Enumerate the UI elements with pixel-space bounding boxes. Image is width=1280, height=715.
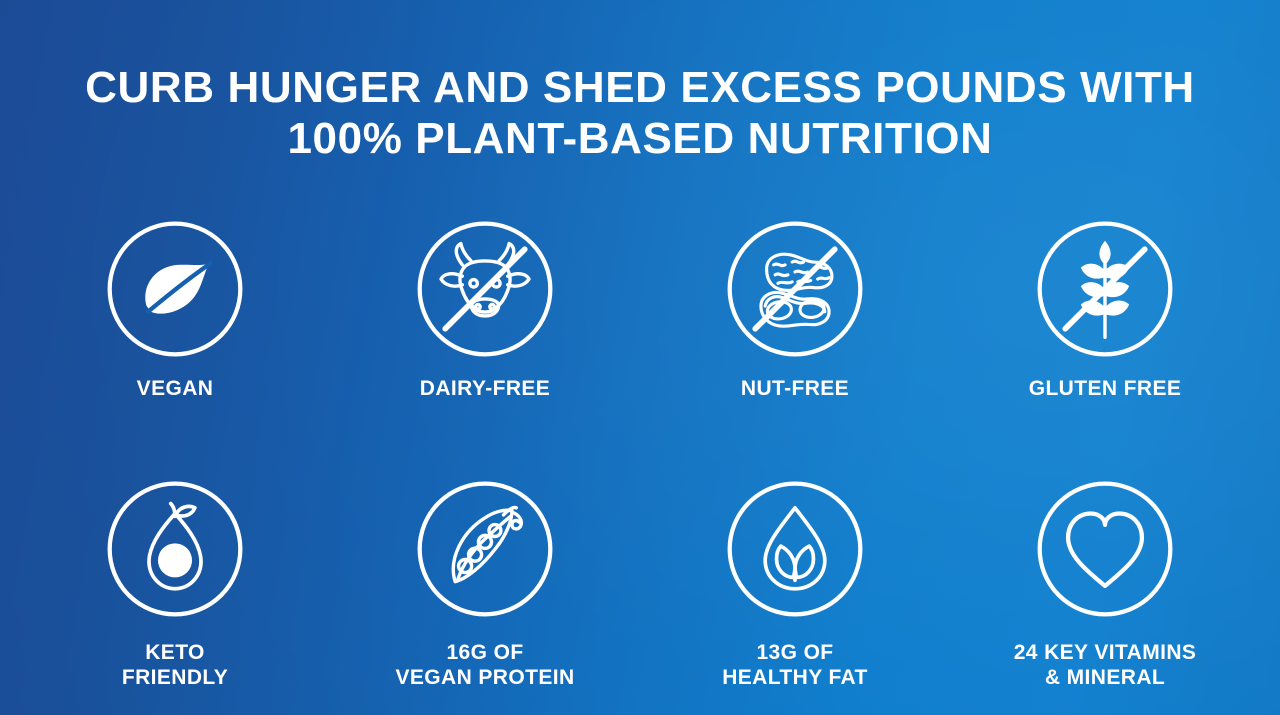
benefit-item-nut-free: NUT-FREE — [670, 218, 920, 401]
benefit-label: KETO FRIENDLY — [122, 640, 228, 690]
pea-pod-icon — [414, 478, 556, 620]
benefit-item-healthy-fat: 13G OF HEALTHY FAT — [670, 478, 920, 690]
benefit-label: VEGAN — [137, 376, 214, 401]
benefit-item-gluten-free: GLUTEN FREE — [980, 218, 1230, 401]
page-title: CURB HUNGER AND SHED EXCESS POUNDS WITH … — [0, 62, 1280, 164]
benefit-item-vitamins-minerals: 24 KEY VITAMINS & MINERAL — [980, 478, 1230, 690]
benefit-label: 13G OF HEALTHY FAT — [722, 640, 868, 690]
benefit-label: NUT-FREE — [741, 376, 849, 401]
leaf-droplet-icon — [724, 478, 866, 620]
benefit-label: DAIRY-FREE — [420, 376, 550, 401]
benefits-grid: VEGAN — [0, 218, 1280, 690]
headline-line-2: 100% PLANT-BASED NUTRITION — [0, 113, 1280, 164]
benefit-item-vegan: VEGAN — [50, 218, 300, 401]
headline-line-1: CURB HUNGER AND SHED EXCESS POUNDS WITH — [0, 62, 1280, 113]
benefits-row-2: KETO FRIENDLY — [0, 478, 1280, 690]
wheat-stalk-icon — [1034, 218, 1176, 360]
benefit-label: GLUTEN FREE — [1029, 376, 1182, 401]
benefit-item-keto-friendly: KETO FRIENDLY — [50, 478, 300, 690]
cow-head-icon — [414, 218, 556, 360]
peanut-icon — [724, 218, 866, 360]
benefit-item-dairy-free: DAIRY-FREE — [360, 218, 610, 401]
benefits-row-1: VEGAN — [0, 218, 1280, 401]
avocado-icon — [104, 478, 246, 620]
benefit-item-vegan-protein: 16G OF VEGAN PROTEIN — [360, 478, 610, 690]
benefit-label: 16G OF VEGAN PROTEIN — [395, 640, 574, 690]
promo-banner: CURB HUNGER AND SHED EXCESS POUNDS WITH … — [0, 0, 1280, 715]
benefit-label: 24 KEY VITAMINS & MINERAL — [1014, 640, 1197, 690]
leaf-icon — [104, 218, 246, 360]
heart-icon — [1034, 478, 1176, 620]
